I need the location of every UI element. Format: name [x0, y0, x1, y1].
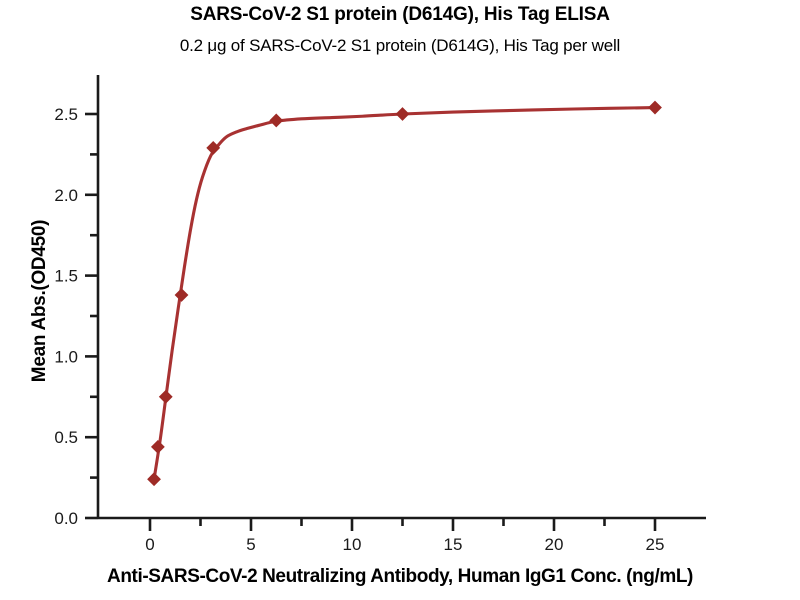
x-tick-label: 10	[343, 535, 362, 554]
y-tick-label: 1.5	[54, 267, 78, 286]
fit-curve	[154, 108, 655, 480]
y-tick-label: 2.5	[54, 105, 78, 124]
y-tick-label: 2.0	[54, 186, 78, 205]
x-tick-label: 20	[545, 535, 564, 554]
y-tick-label: 0.5	[54, 428, 78, 447]
data-point-marker	[175, 289, 187, 301]
x-tick-label: 0	[145, 535, 154, 554]
plot-area: 0.00.51.01.52.02.50510152025	[0, 0, 800, 600]
data-point-marker	[152, 441, 164, 453]
y-tick-label: 0.0	[54, 509, 78, 528]
data-point-marker	[160, 391, 172, 403]
data-point-marker	[207, 142, 219, 154]
x-tick-label: 5	[246, 535, 255, 554]
elisa-chart-figure: SARS-CoV-2 S1 protein (D614G), His Tag E…	[0, 0, 800, 600]
x-tick-label: 25	[646, 535, 665, 554]
data-point-marker	[148, 473, 160, 485]
data-point-marker	[396, 108, 408, 120]
data-point-marker	[649, 101, 661, 113]
data-point-marker	[270, 114, 282, 126]
y-tick-label: 1.0	[54, 347, 78, 366]
x-tick-label: 15	[444, 535, 463, 554]
